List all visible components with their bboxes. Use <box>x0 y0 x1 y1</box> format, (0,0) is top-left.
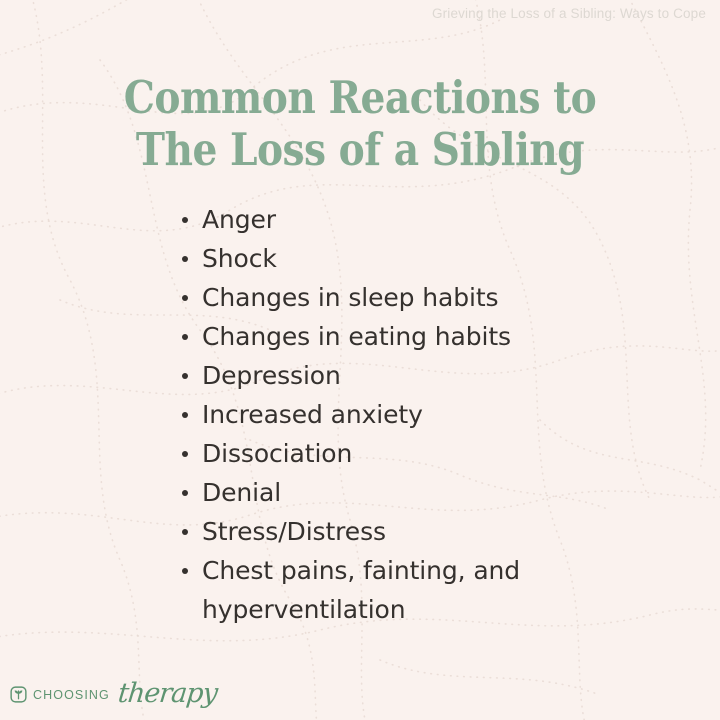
poster-canvas: Grieving the Loss of a Sibling: Ways to … <box>0 0 720 720</box>
list-item: Shock <box>178 239 608 278</box>
list-item: Chest pains, fainting, and hyperventilat… <box>178 551 608 629</box>
choosing-therapy-logo[interactable]: CHOOSING therapy <box>10 681 217 708</box>
logo-word-choosing: CHOOSING <box>33 688 110 702</box>
leaf-badge-icon <box>10 686 27 703</box>
list-item: Stress/Distress <box>178 512 608 551</box>
list-item: Dissociation <box>178 434 608 473</box>
list-item: Denial <box>178 473 608 512</box>
reactions-list: Anger Shock Changes in sleep habits Chan… <box>178 200 608 629</box>
title-line-1: Common Reactions to <box>47 72 673 124</box>
list-item: Changes in sleep habits <box>178 278 608 317</box>
list-item: Anger <box>178 200 608 239</box>
logo-word-therapy: therapy <box>117 680 219 707</box>
list-item: Depression <box>178 356 608 395</box>
list-item: Increased anxiety <box>178 395 608 434</box>
list-item: Changes in eating habits <box>178 317 608 356</box>
poster-title: Common Reactions to The Loss of a Siblin… <box>0 72 720 176</box>
poster-top-caption: Grieving the Loss of a Sibling: Ways to … <box>432 6 706 21</box>
title-line-2: The Loss of a Sibling <box>47 124 673 176</box>
